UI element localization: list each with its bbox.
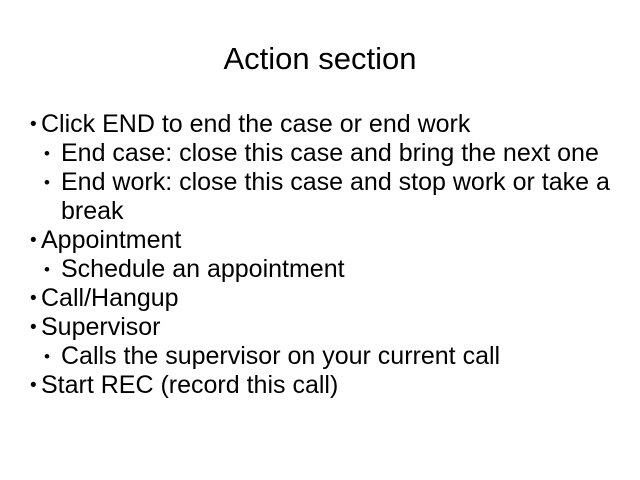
page-title: Action section xyxy=(0,40,640,78)
bullet-icon: • xyxy=(44,139,61,168)
list-item: • Supervisor xyxy=(28,313,614,342)
list-item-label: Click END to end the case or end work xyxy=(41,110,614,139)
list-item-label: Schedule an appointment xyxy=(61,255,614,284)
bullet-icon: • xyxy=(30,226,41,255)
list-item-label: Call/Hangup xyxy=(41,284,614,313)
bullet-icon: • xyxy=(44,255,61,284)
list-item-label: Start REC (record this call) xyxy=(41,371,614,400)
list-item-label: End work: close this case and stop work … xyxy=(61,168,614,226)
bullet-icon: • xyxy=(30,313,41,342)
bullet-icon: • xyxy=(30,110,41,139)
list-item: • Schedule an appointment xyxy=(28,255,614,284)
bullet-icon: • xyxy=(44,342,61,371)
list-item: • Appointment xyxy=(28,226,614,255)
slide-canvas: Action section • Click END to end the ca… xyxy=(0,0,640,480)
list-item-label: End case: close this case and bring the … xyxy=(61,139,614,168)
list-item: • Start REC (record this call) xyxy=(28,371,614,400)
list-item-label: Supervisor xyxy=(41,313,614,342)
list-item: • Calls the supervisor on your current c… xyxy=(28,342,614,371)
bullet-icon: • xyxy=(30,284,41,313)
list-item: • Click END to end the case or end work xyxy=(28,110,614,139)
list-item: • Call/Hangup xyxy=(28,284,614,313)
list-item: • End case: close this case and bring th… xyxy=(28,139,614,168)
bullet-icon: • xyxy=(44,168,61,197)
list-item-label: Appointment xyxy=(41,226,614,255)
bullet-icon: • xyxy=(30,371,41,400)
list-item: • End work: close this case and stop wor… xyxy=(28,168,614,226)
bullet-list: • Click END to end the case or end work … xyxy=(28,110,614,400)
list-item-label: Calls the supervisor on your current cal… xyxy=(61,342,614,371)
